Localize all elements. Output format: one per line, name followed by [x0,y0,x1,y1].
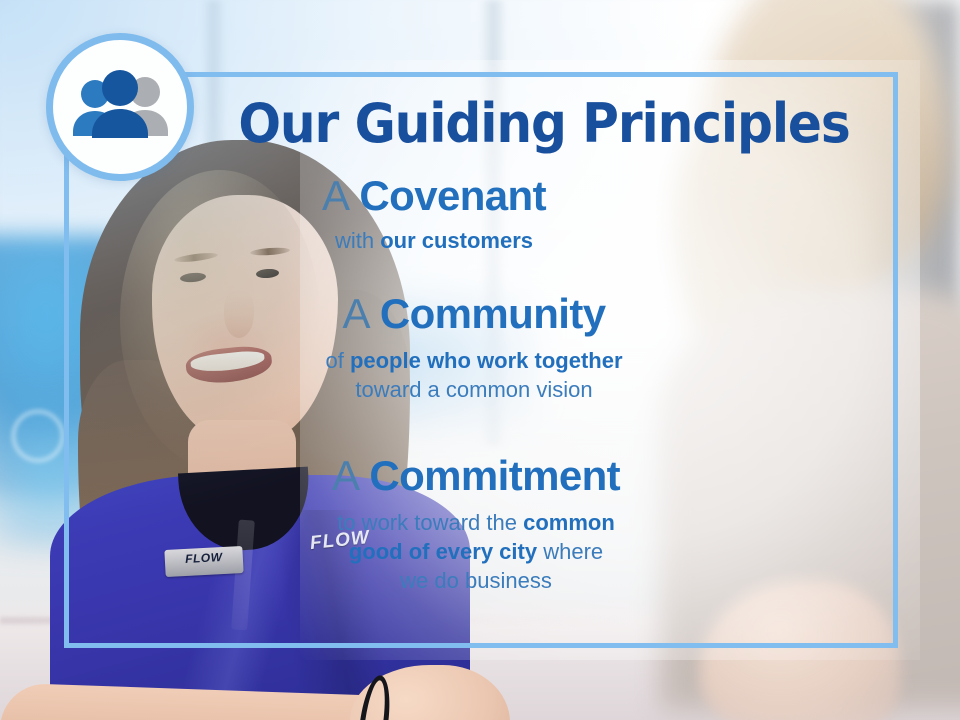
emphasis-text: our customers [380,228,533,253]
principle-covenant: A Covenant with our customers [64,174,804,255]
principle-headline: A Covenant [64,174,804,218]
emphasis-text: good of every city [349,539,537,564]
principle-subline: to work toward the common [64,508,888,537]
principle-commitment: A Commitment to work toward the common g… [64,454,888,595]
emphasis-text: common [523,510,615,535]
principle-article: A [332,452,358,499]
principle-subline: we do business [64,566,888,595]
text-content: Our Guiding Principles A Covenant with o… [64,72,898,648]
principle-keyword: Commitment [369,452,620,499]
page-title: Our Guiding Principles [237,96,851,151]
plain-text: we do business [400,568,552,593]
principle-subline: with our customers [64,226,804,255]
principle-article: A [322,172,348,219]
emphasis-text: people who work together [350,348,623,373]
principle-keyword: Covenant [359,172,546,219]
plain-text: toward a common vision [355,377,592,402]
principle-subtext: of people who work together toward a com… [64,346,884,404]
plain-text: to work toward the [337,510,523,535]
plain-text: where [537,539,603,564]
plain-text: with [335,228,380,253]
blurred-vw-logo [12,410,64,462]
principle-subline: good of every city where [64,537,888,566]
principle-headline: A Commitment [64,454,888,498]
principle-community: A Community of people who work together … [64,292,884,404]
principle-headline: A Community [64,292,884,336]
principle-subtext: with our customers [64,226,804,255]
plain-text: of [325,348,349,373]
principle-subline: of people who work together [64,346,884,375]
principle-subtext: to work toward the common good of every … [64,508,888,595]
principle-article: A [343,290,369,337]
principle-keyword: Community [380,290,606,337]
principle-subline: toward a common vision [64,375,884,404]
poster-canvas: FLOW FLOW Our Guiding Principles [0,0,960,720]
